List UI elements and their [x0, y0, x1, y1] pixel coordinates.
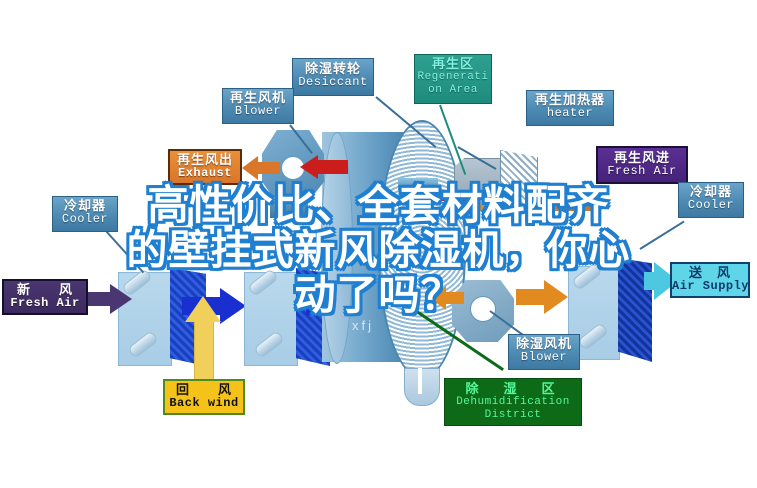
label-desiccant-cn: 除湿转轮 — [293, 62, 373, 76]
label-dehumidification-district-en: Dehumidification District — [445, 396, 581, 422]
watermark: xfj — [352, 318, 374, 333]
label-fresh-air[interactable]: 新 风 Fresh Air — [2, 279, 88, 315]
label-regeneration-blower-en: Blower — [223, 105, 293, 118]
regeneration-heater-coil — [500, 150, 538, 210]
label-cooler-right-en: Cooler — [679, 199, 743, 212]
diagram-canvas: xfj — [0, 0, 757, 488]
rotor-support-slot — [418, 368, 422, 394]
label-regeneration-heater-en: heater — [527, 107, 613, 120]
label-fresh-air-cn: 新 风 — [4, 283, 86, 297]
label-exhaust[interactable]: 再生风出 Exhaust — [168, 149, 242, 185]
label-regeneration-fresh-air-en: Fresh Air — [598, 165, 686, 178]
label-regeneration-fresh-air-cn: 再生风进 — [598, 151, 686, 165]
label-regeneration-heater[interactable]: 再生加热器 heater — [526, 90, 614, 126]
label-back-wind-cn: 回 风 — [165, 383, 243, 397]
dehumidification-blower-hub — [470, 296, 496, 322]
rotor-support-bracket — [404, 368, 440, 406]
label-regeneration-blower-cn: 再生风机 — [223, 91, 293, 105]
label-dehumidification-district-cn: 除 湿 区 — [445, 382, 581, 396]
label-regeneration-area-en: Regenerati on Area — [415, 71, 491, 97]
label-cooler-right-cn: 冷却器 — [679, 185, 743, 199]
label-regeneration-area[interactable]: 再生区 Regenerati on Area — [414, 54, 492, 104]
label-dehumidification-blower-en: Blower — [509, 351, 579, 364]
label-cooler-left[interactable]: 冷却器 Cooler — [52, 196, 118, 232]
label-dehumidification-district[interactable]: 除 湿 区 Dehumidification District — [444, 378, 582, 426]
desiccant-rotor — [322, 120, 462, 375]
label-air-supply[interactable]: 送 风 Air Supply — [670, 262, 750, 298]
label-regeneration-fresh-air[interactable]: 再生风进 Fresh Air — [596, 146, 688, 184]
label-regeneration-blower[interactable]: 再生风机 Blower — [222, 88, 294, 124]
label-dehumidification-blower-cn: 除湿风机 — [509, 337, 579, 351]
label-air-supply-en: Air Supply — [672, 280, 748, 293]
regeneration-blower-outlet — [270, 196, 308, 218]
rotor-honeycomb-face — [378, 120, 466, 379]
label-regeneration-area-cn: 再生区 — [415, 57, 491, 71]
label-desiccant[interactable]: 除湿转轮 Desiccant — [292, 58, 374, 96]
regen-duct-plate — [398, 178, 438, 190]
label-exhaust-en: Exhaust — [170, 167, 240, 180]
connector-cooler-right — [639, 221, 684, 250]
label-dehumidification-blower[interactable]: 除湿风机 Blower — [508, 334, 580, 370]
label-regeneration-heater-cn: 再生加热器 — [527, 93, 613, 107]
label-exhaust-cn: 再生风出 — [170, 153, 240, 167]
label-air-supply-cn: 送 风 — [672, 266, 748, 280]
label-back-wind-en: Back wind — [165, 397, 243, 410]
label-cooler-left-cn: 冷却器 — [53, 199, 117, 213]
label-cooler-left-en: Cooler — [53, 213, 117, 226]
connector-cooler-left — [105, 230, 144, 273]
label-desiccant-en: Desiccant — [293, 76, 373, 89]
label-fresh-air-en: Fresh Air — [4, 297, 86, 310]
label-cooler-right[interactable]: 冷却器 Cooler — [678, 182, 744, 218]
label-back-wind[interactable]: 回 风 Back wind — [163, 379, 245, 415]
heater-base-plate — [452, 204, 600, 211]
